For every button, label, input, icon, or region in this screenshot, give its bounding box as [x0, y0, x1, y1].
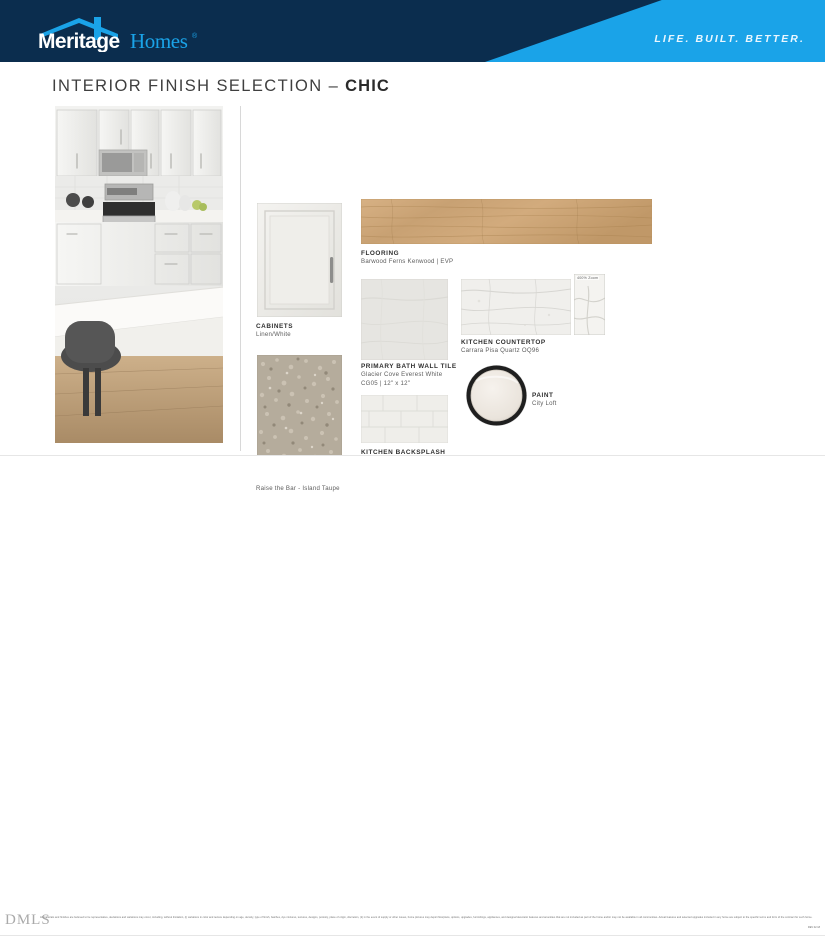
paint-title: PAINT — [532, 391, 557, 400]
bath-wall-tile-label: PRIMARY BATH WALL TILE Glacier Cove Ever… — [361, 362, 457, 388]
bath-wall-tile-title: PRIMARY BATH WALL TILE — [361, 362, 457, 371]
countertop-zoom-swatch[interactable] — [574, 274, 605, 335]
bath-wall-tile-detail2: CG05 | 12" x 12" — [361, 380, 457, 389]
finish-board: FLOORING Barwood Ferns Kenwood | EVP CAB… — [0, 95, 825, 455]
cabinets-title: CABINETS — [256, 322, 293, 331]
page-title-scheme: CHIC — [345, 77, 390, 95]
page-header: Meritage Homes ® LIFE. BUILT. BETTER. — [0, 0, 825, 62]
svg-text:®: ® — [192, 32, 198, 40]
footer-revision: REV 02.18 — [808, 926, 820, 929]
paint-swatch[interactable] — [466, 365, 527, 426]
countertop-swatch[interactable] — [461, 279, 571, 335]
countertop-title: KITCHEN COUNTERTOP — [461, 338, 546, 347]
svg-text:Meritage: Meritage — [38, 30, 120, 52]
header-underline — [0, 62, 825, 65]
countertop-label: KITCHEN COUNTERTOP Carrara Pisa Quartz O… — [461, 338, 546, 356]
paint-detail: City Loft — [532, 400, 557, 409]
paint-label: PAINT City Loft — [532, 391, 557, 409]
board-divider — [240, 106, 241, 451]
footer-disclaimer: All materials and finishes are believed … — [40, 916, 820, 921]
svg-text:Homes: Homes — [130, 29, 188, 52]
cabinets-detail: Linen/White — [256, 331, 293, 340]
flooring-title: FLOORING — [361, 249, 453, 258]
cabinets-label: CABINETS Linen/White — [256, 322, 293, 340]
countertop-zoom-label: 400% Zoom — [576, 276, 599, 280]
page-title: INTERIOR FINISH SELECTION – CHIC — [52, 77, 390, 96]
header-tagline: LIFE. BUILT. BETTER. — [654, 33, 805, 45]
backsplash-swatch[interactable] — [361, 395, 448, 443]
flooring-label: FLOORING Barwood Ferns Kenwood | EVP — [361, 249, 453, 267]
cabinets-swatch[interactable] — [257, 203, 342, 317]
bath-wall-tile-detail: Glacier Cove Everest White — [361, 371, 457, 380]
header-accent-shape — [485, 0, 825, 62]
carpet-detail: Raise the Bar - Island Taupe — [256, 485, 340, 494]
countertop-detail: Carrara Pisa Quartz OQ96 — [461, 347, 546, 356]
page-footer: DMLS All materials and finishes are beli… — [0, 455, 825, 485]
meritage-homes-logo: Meritage Homes ® — [22, 14, 222, 52]
kitchen-room-photo — [55, 106, 223, 443]
carpet-swatch[interactable] — [257, 355, 342, 470]
flooring-swatch[interactable] — [361, 199, 652, 244]
page-title-prefix: INTERIOR FINISH SELECTION – — [52, 77, 345, 95]
bath-wall-tile-swatch[interactable] — [361, 279, 448, 360]
flooring-detail: Barwood Ferns Kenwood | EVP — [361, 258, 453, 267]
